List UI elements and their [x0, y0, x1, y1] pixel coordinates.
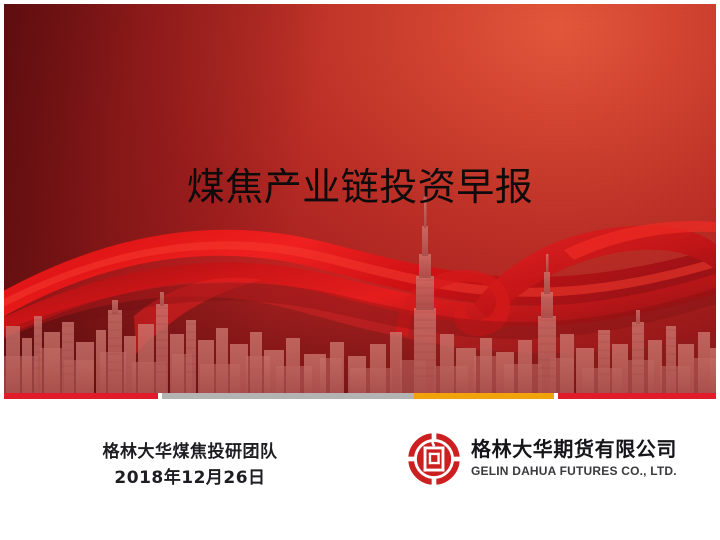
slide-footer: 格林大华煤焦投研团队 2018年12月26日: [0, 400, 720, 540]
company-name-cn: 格林大华期货有限公司: [471, 438, 677, 461]
company-name-en: GELIN DAHUA FUTURES CO., LTD.: [471, 463, 677, 479]
brand-text-block: 格林大华期货有限公司 GELIN DAHUA FUTURES CO., LTD.: [471, 438, 677, 479]
report-date: 2018年12月26日: [40, 466, 340, 492]
accent-divider-bar: [4, 393, 716, 399]
research-team-name: 格林大华煤焦投研团队: [40, 440, 340, 466]
accent-segment-orange: [414, 393, 554, 399]
company-logo: 格林大华期货有限公司 GELIN DAHUA FUTURES CO., LTD.: [408, 433, 677, 485]
presentation-slide: 煤焦产业链投资早报 格林大华煤焦投研团队 2018年12月26日: [0, 0, 720, 540]
accent-segment-red-right: [558, 393, 716, 399]
page-title: 煤焦产业链投资早报: [4, 164, 716, 212]
gelin-dahua-seal-icon: [408, 433, 460, 485]
hero-banner: 煤焦产业链投资早报: [4, 4, 716, 396]
accent-segment-gray: [162, 393, 414, 399]
author-byline: 格林大华煤焦投研团队 2018年12月26日: [40, 440, 340, 491]
accent-segment-red-left: [4, 393, 158, 399]
